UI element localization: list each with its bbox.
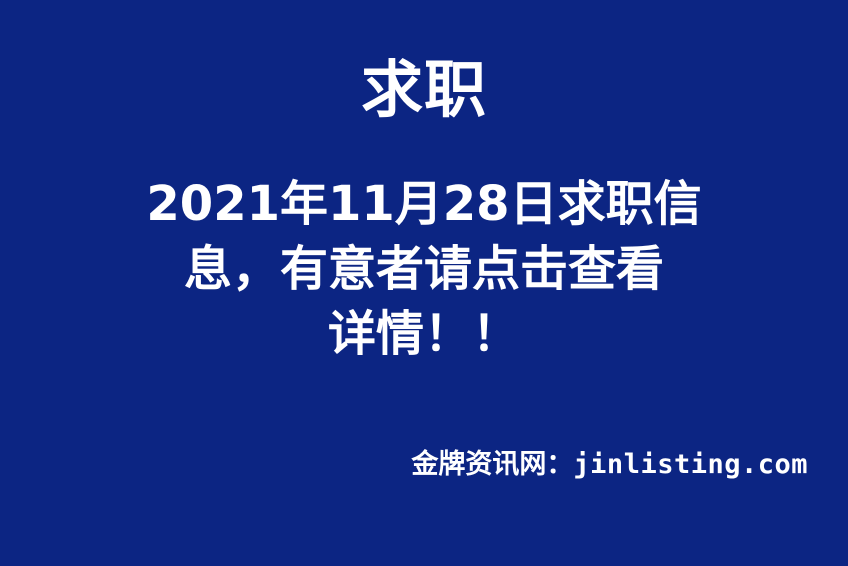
announcement-line-2: 息，有意者请点击查看 <box>124 237 724 302</box>
announcement-line-1: 2021年11月28日求职信 <box>124 172 724 237</box>
announcement-line-3: 详情！！ <box>124 302 724 367</box>
page-title: 求职 <box>0 52 848 128</box>
poster-canvas: 求职 2021年11月28日求职信 息，有意者请点击查看 详情！！ 金牌资讯网：… <box>0 0 848 566</box>
site-name-label: 金牌资讯网： <box>411 449 573 480</box>
site-url-label: jinlisting.com <box>573 449 808 480</box>
footer-credit: 金牌资讯网：jinlisting.com <box>411 447 808 482</box>
announcement-body: 2021年11月28日求职信 息，有意者请点击查看 详情！！ <box>124 172 724 367</box>
